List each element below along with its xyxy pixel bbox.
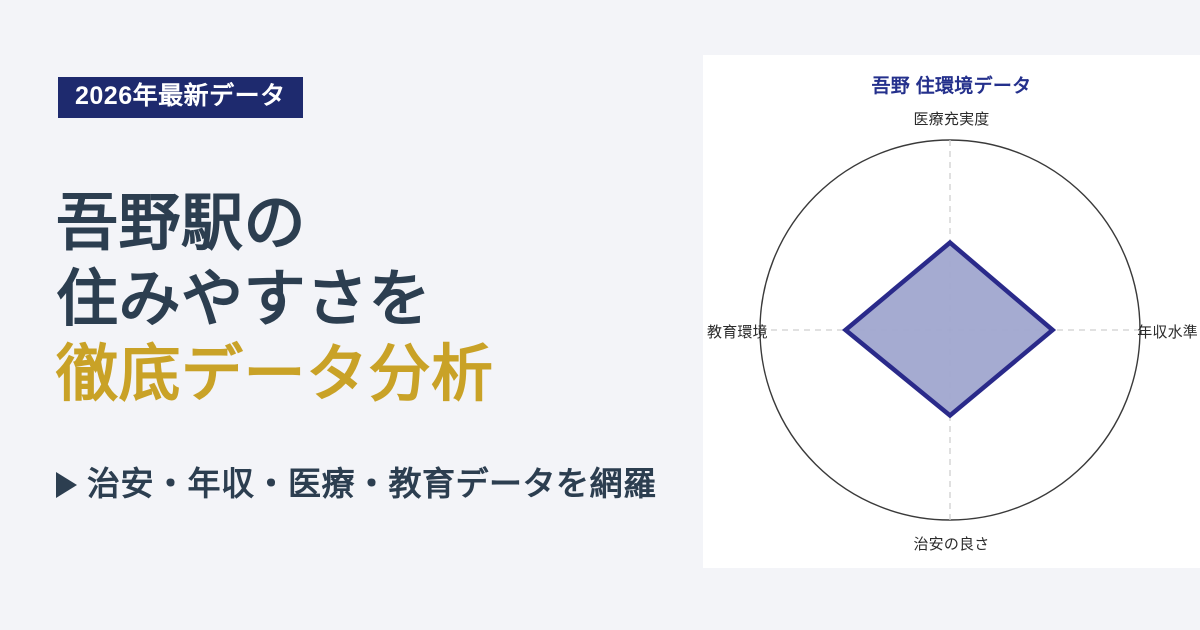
radar-axis-label-bottom: 治安の良さ <box>703 533 1200 554</box>
radar-data-polygon <box>846 243 1053 416</box>
headline-line-3: 徹底データ分析 <box>56 337 696 413</box>
radar-chart-svg <box>703 55 1200 568</box>
subtitle: 治安・年収・医療・教育データを網羅 <box>56 466 657 502</box>
play-triangle-icon <box>56 472 77 498</box>
radar-chart: 医療充実度 年収水準 治安の良さ 教育環境 <box>703 55 1200 568</box>
chart-card: 吾野 住環境データ 医療充実度 年収水準 治安の良さ 教育環境 <box>703 55 1200 568</box>
radar-axis-label-right: 年収水準 <box>1137 321 1198 342</box>
ogp-banner: 2026年最新データ 吾野駅の 住みやすさを 徹底データ分析 治安・年収・医療・… <box>0 0 1200 630</box>
left-content-panel: 2026年最新データ 吾野駅の 住みやすさを 徹底データ分析 治安・年収・医療・… <box>0 0 700 630</box>
radar-axis-label-left: 教育環境 <box>707 321 768 342</box>
status-badge: 2026年最新データ <box>58 77 303 118</box>
radar-axis-label-top: 医療充実度 <box>703 108 1200 129</box>
badge-label: 2026年最新データ <box>75 82 286 110</box>
headline-line-2: 住みやすさを <box>56 262 696 338</box>
page-title: 吾野駅の 住みやすさを 徹底データ分析 <box>56 186 696 413</box>
headline-line-1: 吾野駅の <box>56 186 696 262</box>
subtitle-text: 治安・年収・医療・教育データを網羅 <box>87 466 657 502</box>
